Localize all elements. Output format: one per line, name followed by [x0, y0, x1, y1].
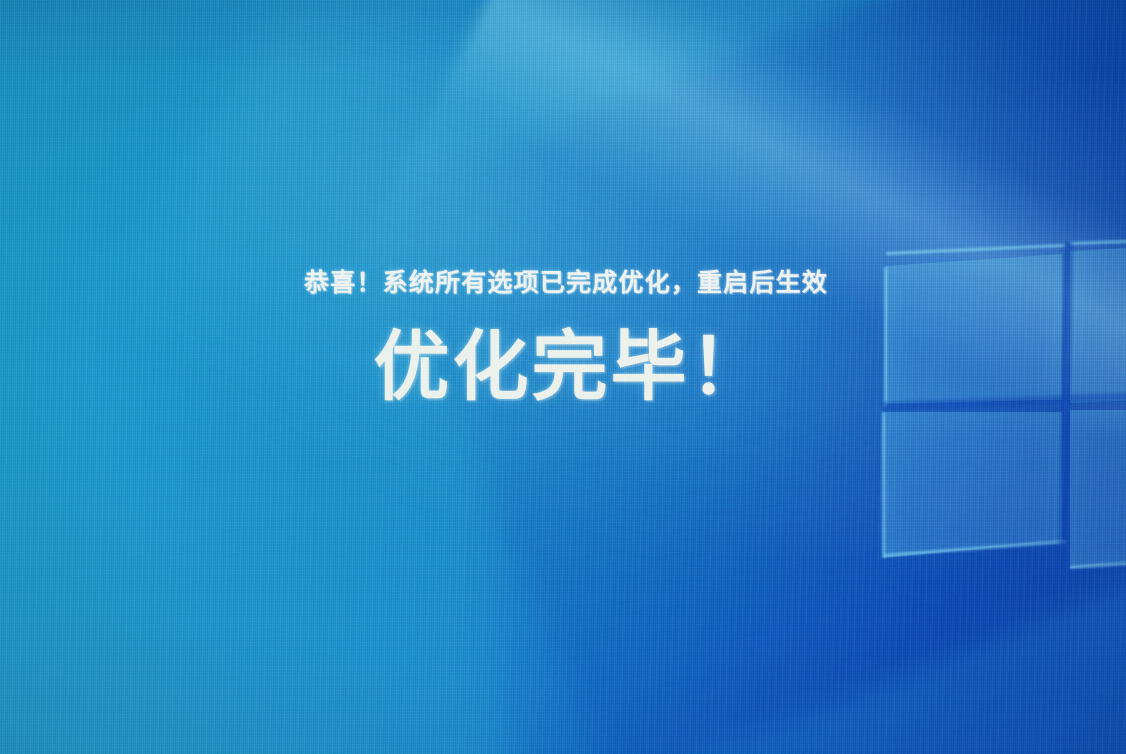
windows-logo-pane-bottom-right: [1070, 410, 1126, 568]
optimization-subtitle: 恭喜！系统所有选项已完成优化，重启后生效: [6, 270, 1126, 295]
optimization-headline: 优化完毕！: [16, 329, 1126, 405]
windows-logo-pane-bottom-left: [884, 412, 1062, 558]
desktop-screen: 恭喜！系统所有选项已完成优化，重启后生效 优化完毕！: [0, 0, 1126, 754]
windows-logo-rim-top-right: [1070, 237, 1126, 245]
windows-logo-rim-top-left: [886, 244, 1066, 255]
optimization-message-block: 恭喜！系统所有选项已完成优化，重启后生效 优化完毕！: [0, 270, 1126, 405]
windows-logo-rim-left-lower: [882, 412, 885, 558]
